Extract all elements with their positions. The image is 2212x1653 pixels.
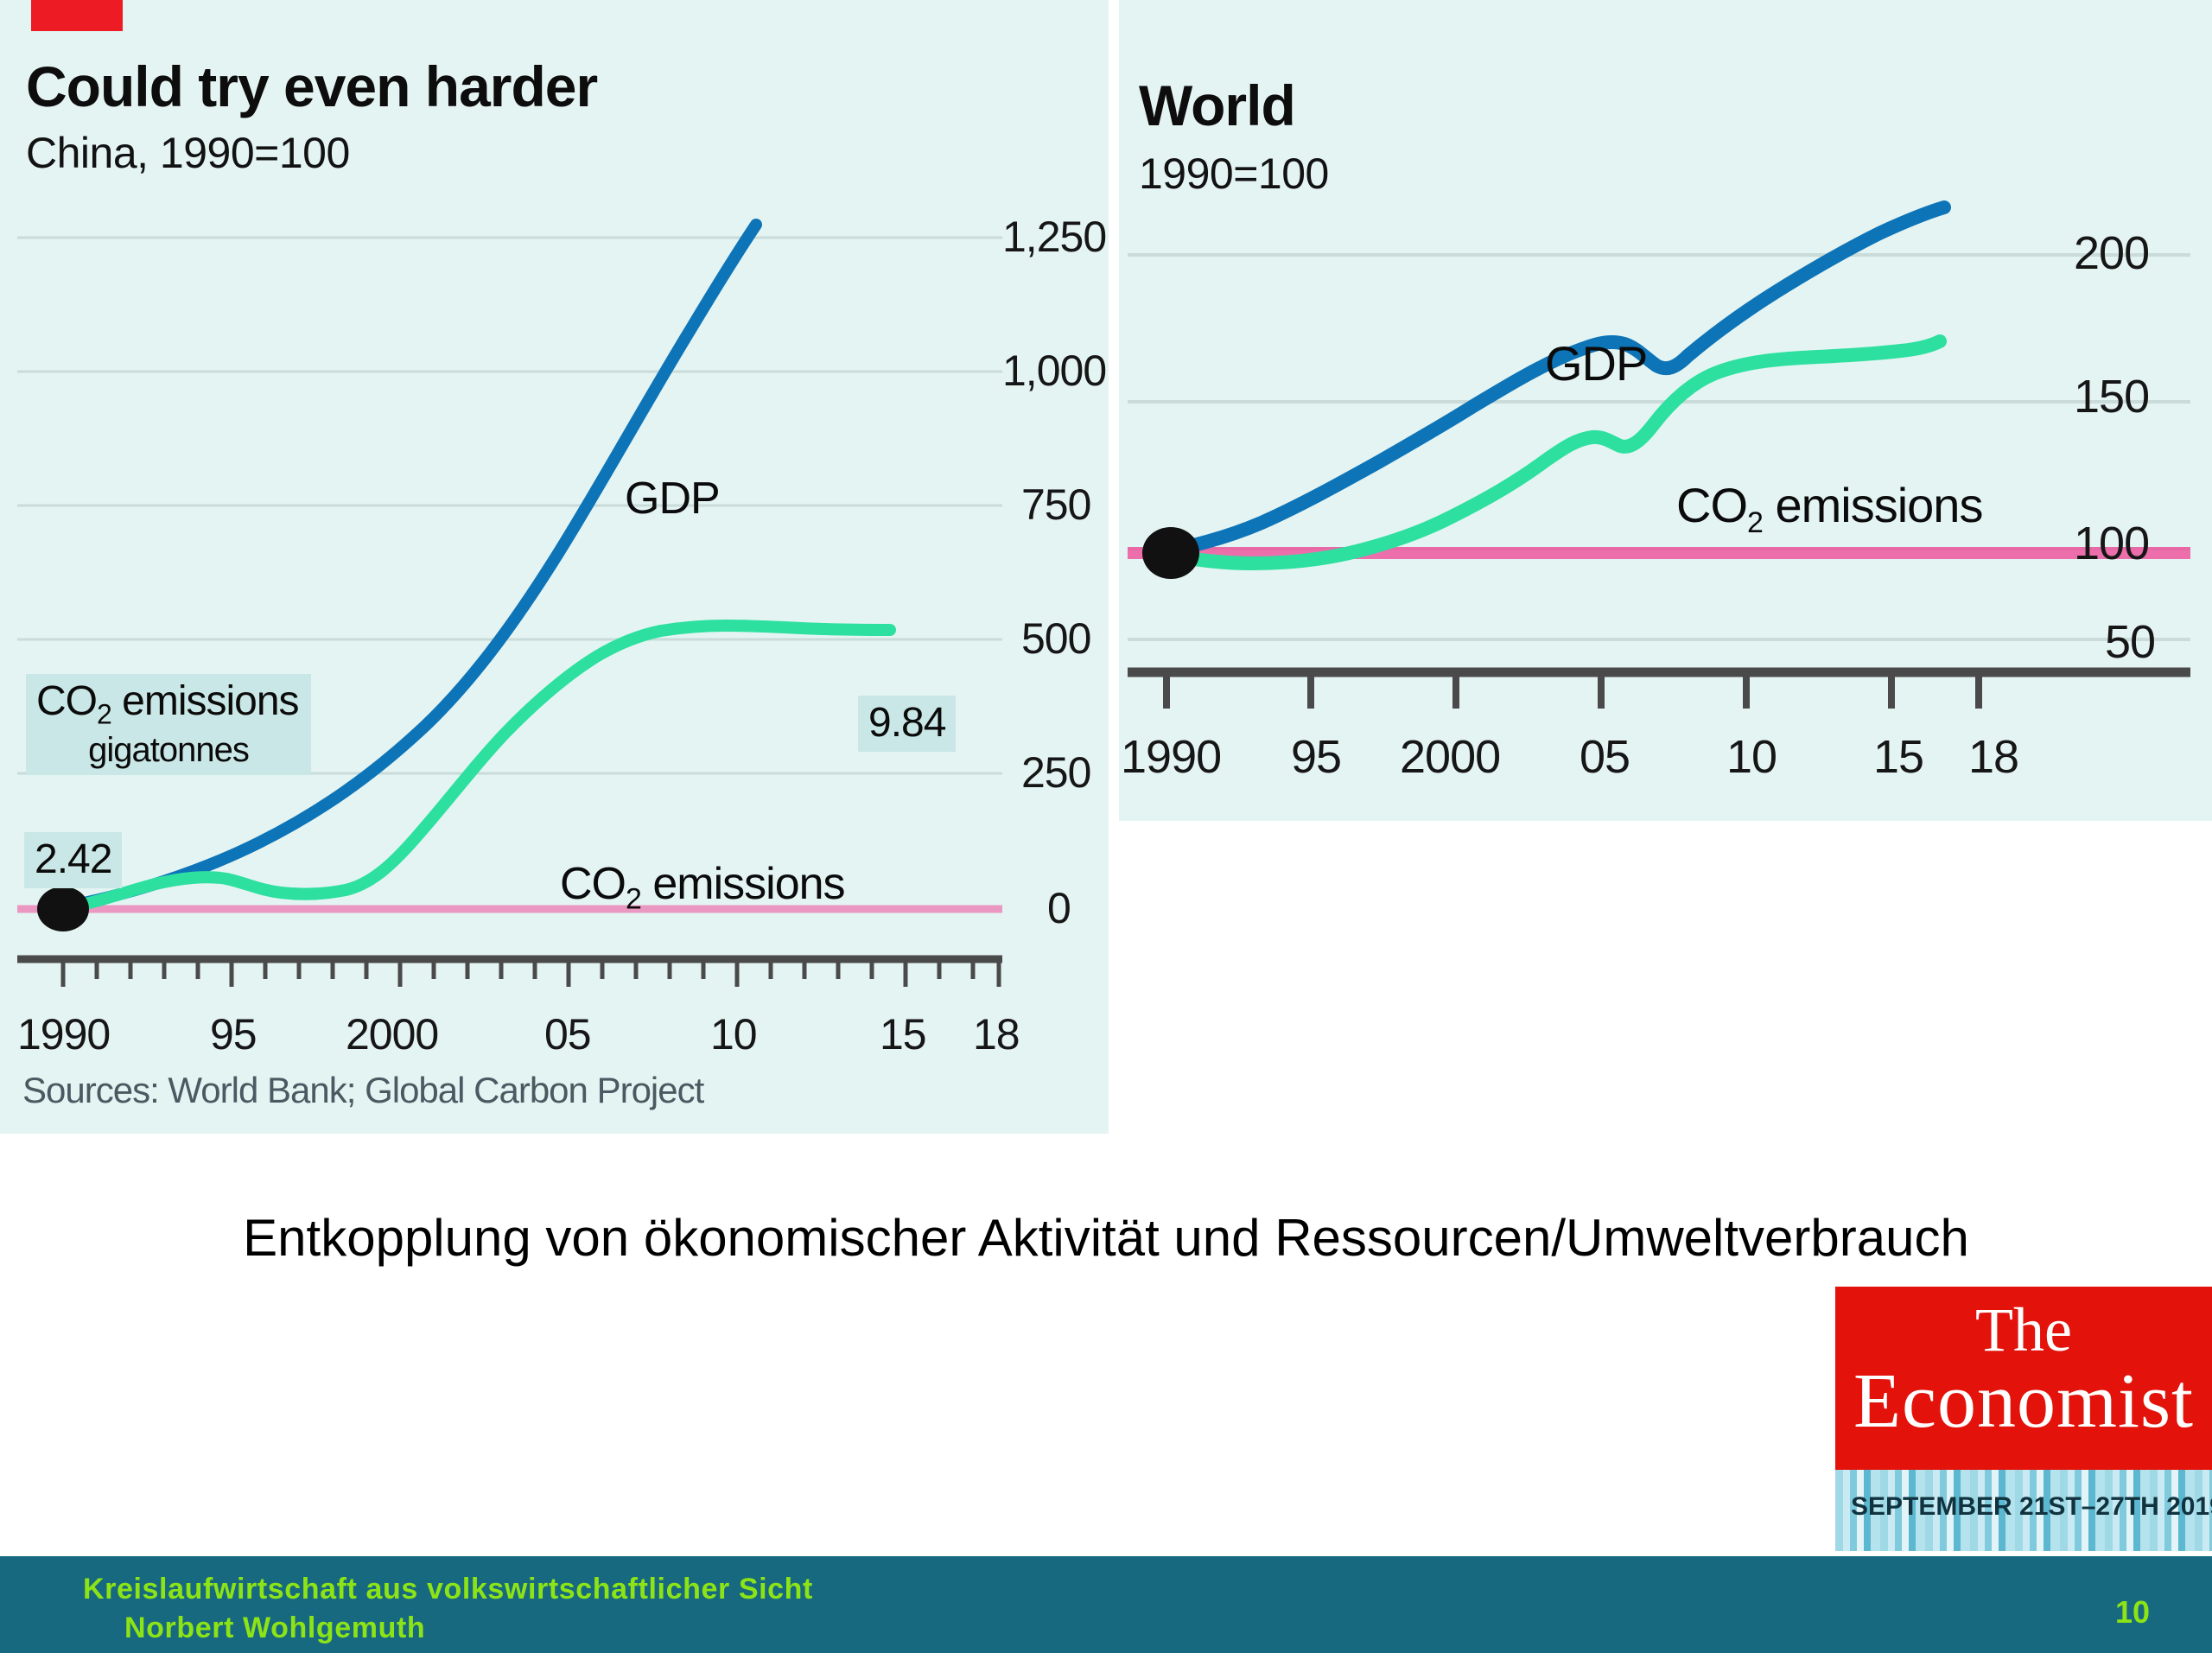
china-co2-units-callout: CO2 emissions gigatonnes [26,674,311,775]
china-xtick-10: 10 [710,1009,757,1059]
china-xtick-15: 15 [880,1009,926,1059]
china-xtick-2000: 2000 [346,1009,438,1059]
slide-footer: Kreislaufwirtschaft aus volkswirtschaftl… [0,1556,2212,1653]
china-ytick-250: 250 [1021,747,1090,798]
economist-cover-stripes: SEPTEMBER 21ST–27TH 2019 [1835,1470,2212,1551]
china-gdp-series-label: GDP [625,473,720,525]
world-gridlines [1128,255,2190,639]
china-ytick-750: 750 [1021,480,1090,530]
china-ytick-1000: 1,000 [1002,346,1106,396]
world-gdp-series-label: GDP [1545,335,1647,391]
world-line-chart [1119,190,2212,786]
china-start-point-marker [37,887,89,931]
world-xtick-05: 05 [1580,730,1630,784]
world-xtick-18: 18 [1968,730,2018,784]
economist-issue-date: SEPTEMBER 21ST–27TH 2019 [1851,1492,2212,1522]
china-xtick-05: 05 [544,1009,591,1059]
china-co2-units-text: gigatonnes [36,731,301,770]
economist-logo: The Economist [1835,1287,2212,1470]
economist-logo-the: The [1835,1299,2212,1361]
world-ytick-200: 200 [2074,226,2149,280]
world-ytick-150: 150 [2074,370,2149,423]
footer-line-1: Kreislaufwirtschaft aus volkswirtschaftl… [83,1573,813,1605]
world-start-point-marker [1142,527,1199,579]
china-xtick-1990: 1990 [17,1009,110,1059]
world-xtick-10: 10 [1726,730,1777,784]
world-ytick-100: 100 [2074,517,2149,570]
china-ytick-0: 0 [1047,883,1071,933]
world-xtick-95: 95 [1291,730,1341,784]
world-xtick-2000: 2000 [1400,730,1500,784]
china-chart-subtitle: China, 1990=100 [26,128,350,178]
page-number: 10 [2115,1594,2150,1631]
china-ytick-500: 500 [1021,614,1090,664]
china-co2-series-label: CO2 emissions [560,858,845,916]
china-xtick-95: 95 [210,1009,257,1059]
china-xtick-18: 18 [973,1009,1020,1059]
china-gdp-series [63,225,756,907]
world-chart-title: World [1139,73,1295,138]
china-line-chart [0,199,1109,1028]
world-xtick-15: 15 [1873,730,1923,784]
world-x-axis-ticks [1166,672,1979,709]
world-xtick-1990: 1990 [1121,730,1221,784]
world-ytick-50: 50 [2105,615,2155,669]
economist-red-tab-icon [31,0,123,31]
china-start-value-callout: 2.42 [24,832,122,888]
footer-line-2: Norbert Wohlgemuth [83,1609,813,1648]
slide-caption: Entkopplung von ökonomischer Aktivität u… [0,1208,2212,1268]
china-x-axis-ticks [63,959,999,987]
china-ytick-1250: 1,250 [1002,212,1106,262]
economist-logo-name: Economist [1835,1363,2212,1440]
footer-text-block: Kreislaufwirtschaft aus volkswirtschaftl… [83,1570,813,1648]
world-co2-series-label: CO2 emissions [1676,477,1982,540]
china-chart-title: Could try even harder [26,54,597,119]
china-end-value-callout: 9.84 [858,696,956,752]
china-source-note: Sources: World Bank; Global Carbon Proje… [22,1070,703,1111]
